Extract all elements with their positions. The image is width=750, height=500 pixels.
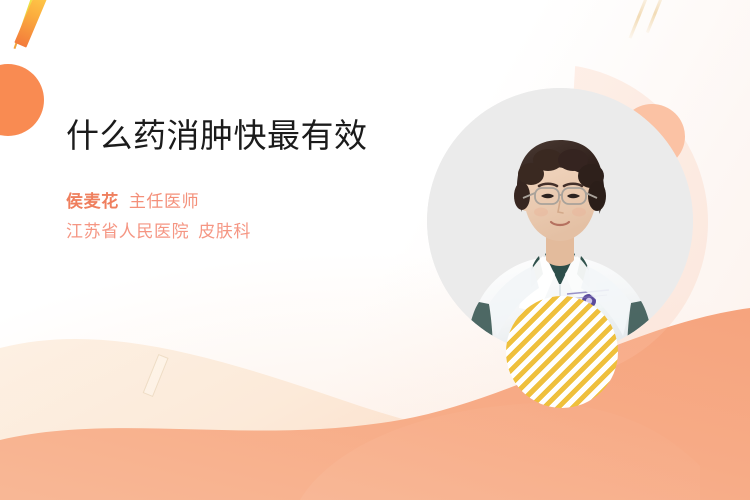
gold-striped-circle-decoration [506,296,618,408]
doctor-credentials: 侯麦花主任医师 [66,187,416,217]
doctor-title: 主任医师 [129,192,199,211]
text-block: 什么药消肿快最有效 侯麦花主任医师 江苏省人民医院皮肤科 [66,118,416,246]
hospital-name: 江苏省人民医院 [66,222,189,241]
doctor-affiliation: 江苏省人民医院皮肤科 [66,217,416,247]
doctor-name: 侯麦花 [66,192,119,211]
department-name: 皮肤科 [198,222,251,241]
doctor-video-card: 什么药消肿快最有效 侯麦花主任医师 江苏省人民医院皮肤科 [0,0,750,500]
page-title: 什么药消肿快最有效 [66,118,416,155]
